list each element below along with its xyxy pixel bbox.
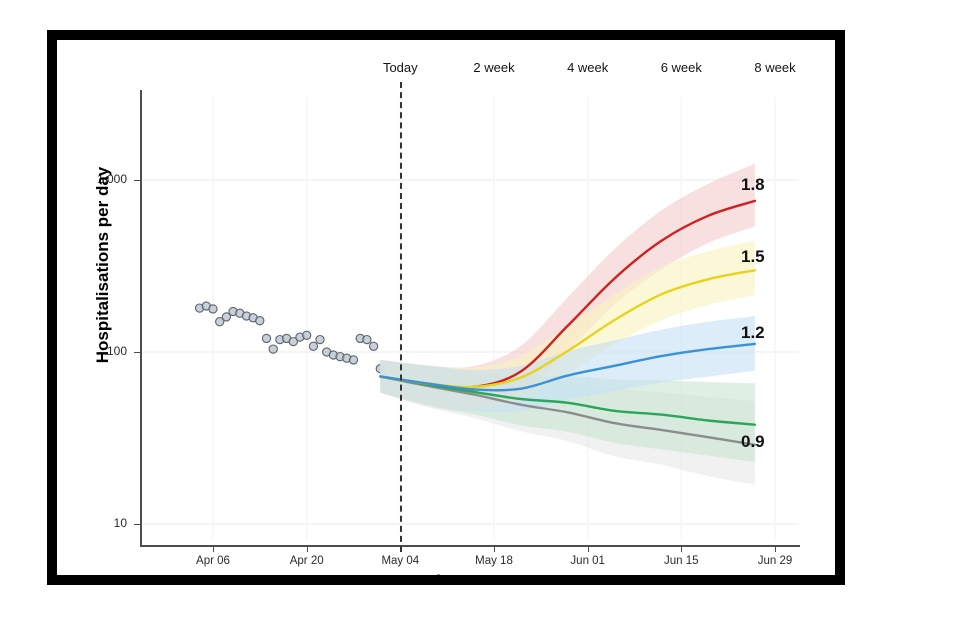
y-axis-tick (134, 180, 141, 181)
x-axis-tick (307, 545, 308, 552)
x-axis-tick (681, 545, 682, 552)
x-axis-tick-label: Jun 01 (548, 555, 628, 567)
observed-point (209, 305, 217, 313)
x-axis-tick (213, 545, 214, 552)
top-label-8-week: 8 week (720, 60, 830, 75)
r-value-label-1-8: 1.8 (741, 175, 765, 195)
x-axis-tick (588, 545, 589, 552)
plot-panel (141, 97, 799, 539)
y-axis-tick (134, 352, 141, 353)
r-value-label-1-2: 1.2 (741, 323, 765, 343)
r-value-label-1-5: 1.5 (741, 247, 765, 267)
observed-point (269, 345, 277, 353)
x-axis-title: Time (57, 572, 835, 575)
x-axis-tick-label: Jun 29 (735, 555, 815, 567)
observed-point (349, 356, 357, 364)
observed-point (262, 334, 270, 342)
plot-svg (141, 97, 799, 539)
x-axis-tick-label: May 18 (454, 555, 534, 567)
today-dashed-line (400, 82, 402, 552)
r-value-label-0-9: 0.9 (741, 432, 765, 452)
y-axis-tick (134, 524, 141, 525)
forecast-chart: 1,00010010Apr 06Apr 20May 04May 18Jun 01… (57, 40, 835, 575)
x-axis-tick (775, 545, 776, 552)
y-axis-line (140, 90, 142, 546)
observed-point (303, 331, 311, 339)
x-axis-tick-label: Jun 15 (641, 555, 721, 567)
x-axis-tick (494, 545, 495, 552)
observed-points-group (196, 302, 385, 373)
figure-black-frame: 1,00010010Apr 06Apr 20May 04May 18Jun 01… (47, 30, 845, 585)
observed-point (370, 342, 378, 350)
y-axis-tick-label: 10 (65, 516, 127, 530)
x-axis-tick-label: Apr 20 (267, 555, 347, 567)
x-axis-line (140, 545, 800, 547)
y-axis-title: Hospitalisations per day (93, 115, 113, 415)
x-axis-tick-label: May 04 (360, 555, 440, 567)
observed-point (363, 336, 371, 344)
figure-canvas: 1,00010010Apr 06Apr 20May 04May 18Jun 01… (57, 40, 835, 575)
x-axis-tick-label: Apr 06 (173, 555, 253, 567)
observed-point (316, 336, 324, 344)
observed-point (309, 342, 317, 350)
screenshot-root: 1,00010010Apr 06Apr 20May 04May 18Jun 01… (0, 0, 960, 640)
observed-point (256, 317, 264, 325)
